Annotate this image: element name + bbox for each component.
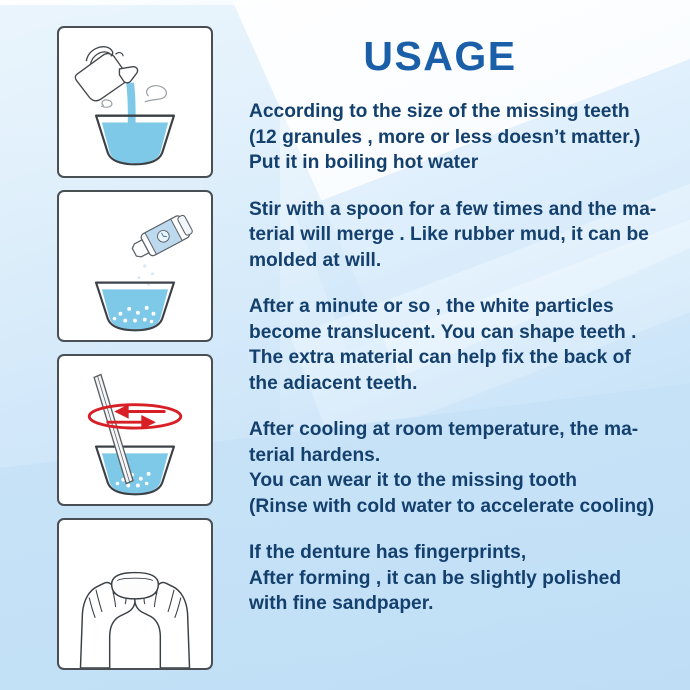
step-2-illustration-panel (57, 190, 213, 342)
step-4-illustration-panel (57, 518, 213, 670)
illustration-panel-column (57, 26, 215, 682)
instruction-step-5-text: If the denture has fingerprints, After f… (249, 540, 669, 617)
stirring-rod-with-rotation-arrows-icon (59, 356, 211, 504)
instruction-text-column: USAGE According to the size of the missi… (249, 36, 669, 617)
instruction-step-4-text: After cooling at room temperature, the m… (249, 417, 669, 519)
step-3-illustration-panel (57, 354, 213, 506)
step-1-illustration-panel (57, 26, 213, 178)
hands-molding-denture-icon (59, 520, 211, 668)
instruction-step-2-text: Stir with a spoon for a few times and th… (249, 197, 669, 274)
bottle-pouring-granules-into-bowl-icon (59, 192, 211, 340)
instruction-step-1-text: According to the size of the missing tee… (249, 99, 669, 176)
kettle-pouring-water-into-bowl-icon (59, 28, 211, 176)
instruction-step-3-text: After a minute or so , the white particl… (249, 294, 669, 396)
page-title: USAGE (249, 36, 669, 77)
usage-instruction-poster: USAGE According to the size of the missi… (0, 0, 690, 690)
